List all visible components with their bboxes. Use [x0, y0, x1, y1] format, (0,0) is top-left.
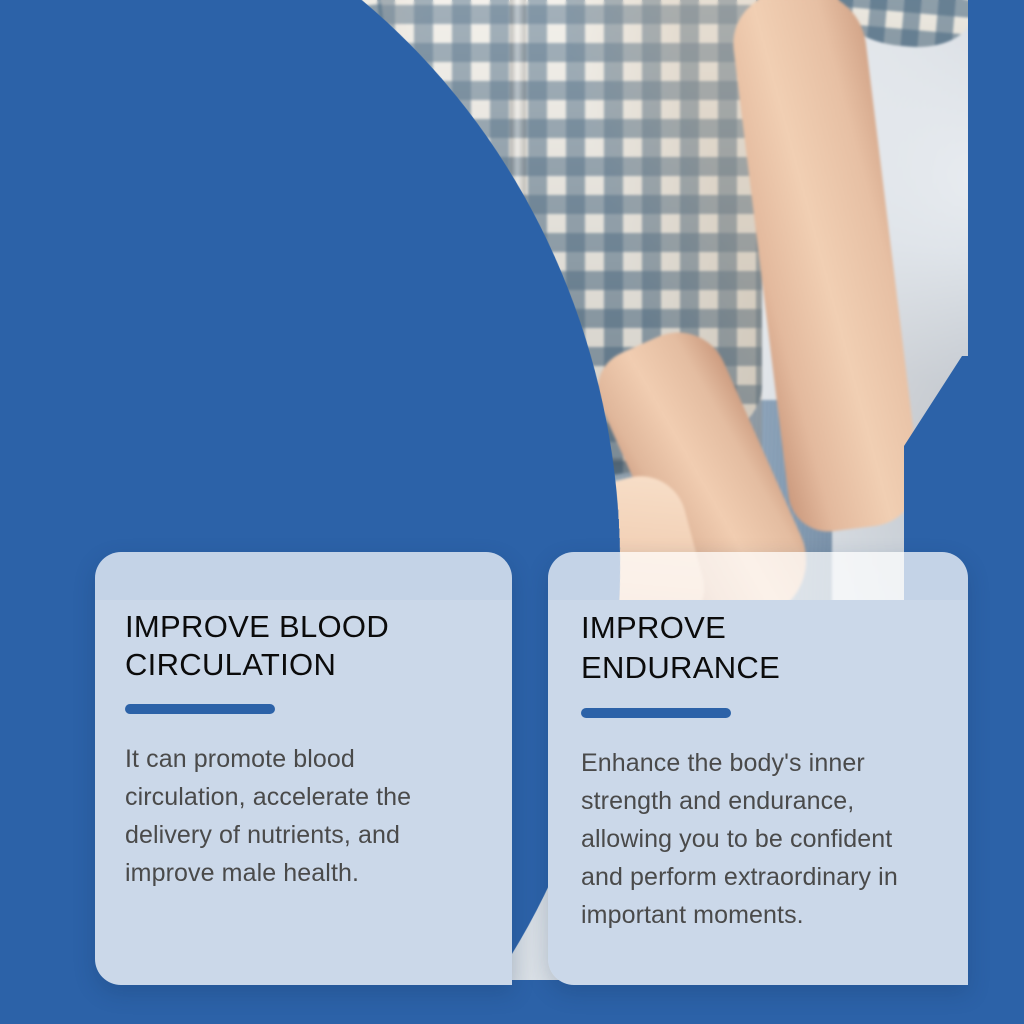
benefit-card-endurance[interactable]: IMPROVE ENDURANCE Enhance the body's inn… — [548, 552, 968, 985]
accent-bar — [581, 708, 731, 718]
benefit-cards: IMPROVE BLOOD CIRCULATION It can promote… — [0, 0, 1024, 1024]
accent-bar — [125, 704, 275, 714]
card-title: IMPROVE ENDURANCE — [581, 608, 938, 688]
poster-canvas: IMPROVE BLOOD CIRCULATION It can promote… — [0, 0, 1024, 1024]
card-description: Enhance the body's inner strength and en… — [581, 744, 938, 934]
card-content: IMPROVE BLOOD CIRCULATION It can promote… — [95, 552, 512, 985]
card-description: It can promote blood circulation, accele… — [125, 740, 474, 892]
card-content: IMPROVE ENDURANCE Enhance the body's inn… — [548, 552, 968, 985]
card-title: IMPROVE BLOOD CIRCULATION — [125, 608, 474, 684]
benefit-card-blood-circulation[interactable]: IMPROVE BLOOD CIRCULATION It can promote… — [95, 552, 512, 985]
